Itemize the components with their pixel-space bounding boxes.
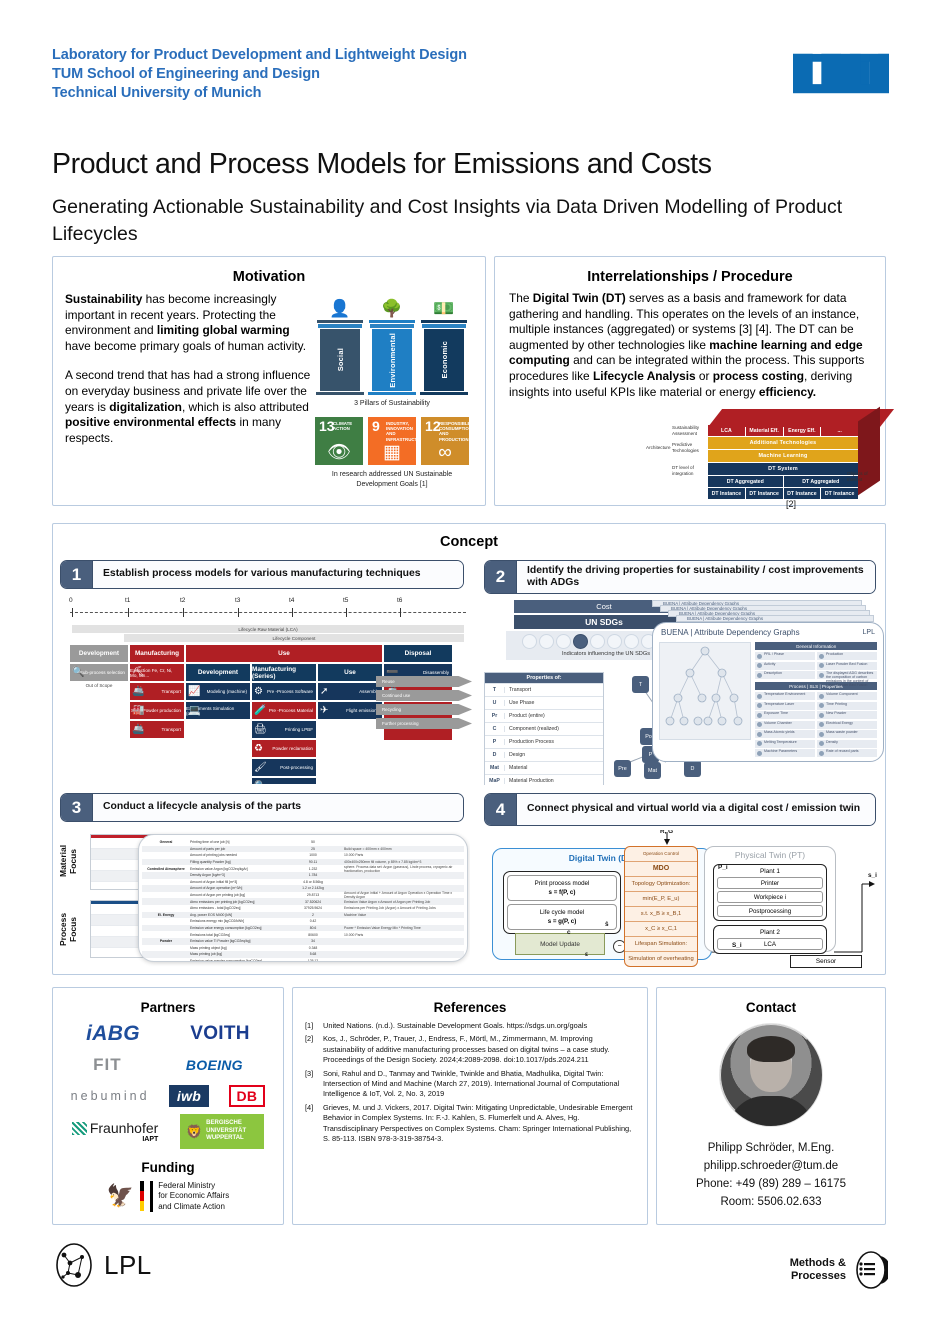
reference-number: [2]: [305, 1034, 318, 1065]
property-key: Pr: [485, 713, 505, 719]
motivation-panel: Motivation Sustainability has become inc…: [52, 256, 486, 506]
pillar-cap-2: [370, 324, 414, 328]
pillar-label-environmental: Environmental: [388, 333, 397, 388]
indicator-circle: [590, 634, 605, 649]
step-3-number: 3: [61, 794, 93, 821]
step-2-number: 2: [485, 561, 517, 593]
prop-left: Temperature Laser: [755, 702, 815, 710]
methods-line-1: Methods &: [790, 1257, 846, 1271]
row-label: Emissions energy mix [kgCO2/kWh]: [190, 919, 282, 923]
group-label: Controlled Atmosphere: [142, 867, 190, 871]
plant-2-name: Plant 2: [717, 929, 823, 936]
logo-wuppertal: 🦁 BERGISCHE UNIVERSITÄT WUPPERTAL: [180, 1114, 264, 1149]
process-label: Powder reclamation: [272, 746, 313, 751]
prop-right: Density: [817, 740, 877, 748]
partners-panel: Partners iABG VOITH FIT BOEING nebumind …: [52, 987, 284, 1225]
row-value: 1.232: [282, 867, 344, 871]
table-row: DescriptionThe displayed ADG describes t…: [755, 671, 877, 679]
arrow-continued-use: Continued use: [376, 690, 472, 701]
properties-table-header: Properties of:: [485, 673, 603, 683]
operation-control-mdo-box: Operation Control MDO Topology Optimizat…: [624, 846, 698, 967]
group-label: Powder: [142, 939, 190, 943]
row-value: 1.784: [282, 873, 344, 877]
partners-heading: Partners: [53, 988, 283, 1015]
list-item: [4]Grieves, M. und J. Vickers, 2017. Dig…: [305, 1103, 635, 1145]
phase-header-use: Use: [186, 645, 382, 662]
sub-header-manufacturing: Manufacturing (Series): [252, 664, 316, 681]
concept-step-3[interactable]: 3 Conduct a lifecycle analysis of the pa…: [60, 793, 464, 822]
model-update-box: Model Update: [515, 933, 605, 955]
avatar: [719, 1023, 823, 1127]
row-value: 1.2 or 2.142kg: [282, 886, 344, 890]
process-box-steel-powder: 🏭Steel Powder production: [130, 702, 184, 719]
stack-cell-dt-instance-1: DT Instance: [708, 488, 745, 499]
tick-label-t3: t3: [235, 597, 240, 604]
prop-left: Exposure Time: [755, 711, 815, 719]
pillar-label-economic: Economic: [440, 341, 449, 378]
process-label: Transport: [162, 727, 182, 732]
mdo-constraint-2: x_C ≥ x_C,1: [625, 922, 697, 937]
funding-line-3: and Climate Action: [158, 1202, 229, 1213]
motivation-bold-4: positive environmental effects: [65, 415, 236, 429]
signal-pi: P_i: [718, 864, 728, 871]
contact-phone: Phone: +49 (89) 289 – 16175: [657, 1175, 885, 1193]
motivation-bold-2: limiting global warming: [157, 323, 290, 337]
use-sub-development: Development 📈Modeling (machine) 💻Experim…: [186, 664, 250, 719]
process-focus-label: Process Focus: [58, 900, 78, 958]
pillar-base: [368, 392, 416, 395]
prop-right: Mass waste powder: [817, 730, 877, 738]
avatar-hair: [747, 1036, 795, 1062]
sdg-13-label: CLIMATE ACTION: [333, 421, 361, 431]
property-value: Product (entire): [505, 713, 545, 719]
funding-ministry-name: Federal Ministry for Economic Affairs an…: [150, 1181, 229, 1213]
concept-step-1[interactable]: 1 Establish process models for various m…: [60, 560, 464, 589]
table-row: PProduction Process: [485, 735, 603, 748]
row-value[interactable]: 25: [282, 847, 344, 851]
process-label: Pre -Process Software: [267, 689, 313, 694]
arrow-further-processing: Further processing: [376, 718, 472, 729]
lifecycle-raw-material-bar: Lifecycle Raw Material (LCA): [72, 625, 464, 633]
table-row: TTransport: [485, 683, 603, 696]
methods-line-2: Processes: [790, 1270, 846, 1284]
group-label: El. Energy: [142, 913, 190, 917]
sub-header-use: Use: [318, 664, 382, 681]
tick-label-t1: t1: [125, 597, 130, 604]
logo-fit: FIT: [93, 1055, 122, 1075]
wuppertal-label: BERGISCHE UNIVERSITÄT WUPPERTAL: [206, 1120, 258, 1143]
row-note: Machine Value: [344, 913, 464, 917]
money-icon: 💵: [433, 298, 454, 320]
computer-icon: 💻: [188, 703, 200, 718]
process-box-pre-process-software: ⚙Pre -Process Software: [252, 683, 316, 700]
tick-label-t5: t5: [343, 597, 348, 604]
stack-label-architecture: Architecture: [646, 445, 671, 451]
group-label: General: [142, 840, 190, 844]
property-value: Production Process: [505, 739, 554, 745]
logo-boeing: BOEING: [186, 1057, 243, 1073]
material-focus-label: Material Focus: [58, 834, 78, 888]
signal-si-feedback: S_i: [732, 942, 742, 949]
property-key: P: [485, 739, 505, 745]
table-row: El. EnergyAvg. power EOS M400 [kW]2Machi…: [142, 912, 464, 919]
step-1-label: Establish process models for various man…: [93, 561, 463, 588]
info-value: The displayed ADG describes the composit…: [817, 671, 877, 679]
property-key: MaP: [485, 778, 505, 784]
info-value: Laser Powder Bed Fusion: [817, 662, 877, 670]
row-note: sphere. Process data set: Argon (gaseous…: [344, 865, 464, 873]
buena-card-body: General Information PRL / PhaseProductio…: [653, 642, 883, 759]
logo-nebumind: nebumind: [71, 1089, 150, 1103]
use-sub-manufacturing: Manufacturing (Series) ⚙Pre -Process Sof…: [252, 664, 316, 784]
row-label: Atmo emissions per printing job [kgCO2eq…: [190, 900, 282, 904]
stack-cell-lca: LCA: [708, 425, 745, 436]
process-label: Post-processing: [280, 765, 313, 770]
sdg-9-number: 9: [372, 420, 380, 432]
process-label: Modeling (machine): [207, 689, 247, 694]
table-row: Temperature LaserTime Printing: [755, 702, 877, 710]
stack-citation: [2]: [786, 499, 796, 509]
process-label: Flight emissions: [346, 708, 379, 713]
row-value: 37925.9624: [282, 906, 344, 910]
pillar-cap: [369, 320, 415, 323]
interrelationships-text: The Digital Twin (DT) serves as a basis …: [509, 291, 875, 400]
emissions-calculation-sheet[interactable]: GeneralPrinting time of one job [h]50 Am…: [138, 834, 468, 962]
table-row: Amount of parts per job25Build space = 4…: [142, 846, 464, 853]
row-value: 37.520624: [282, 900, 344, 904]
logo-fraunhofer: Fraunhofer IAPT: [72, 1120, 158, 1143]
table-row: Emission value energy consumption [kgCO2…: [142, 925, 464, 932]
table-row: DDesign: [485, 748, 603, 761]
row-label: Filling quantity Powder [kg]: [190, 860, 282, 864]
property-key: Mat: [485, 765, 505, 771]
row-label: Amount of parts per job: [190, 847, 282, 851]
table-row: GeneralPrinting time of one job [h]50: [142, 839, 464, 846]
german-flag-icon: [140, 1181, 144, 1211]
buena-card-back-4: BUENA | Attribute Dependency Graphs: [676, 615, 874, 622]
table-row: Mass Atomic yieldsMass waste powder: [755, 730, 877, 738]
logo-voith: VOITH: [190, 1023, 250, 1045]
contact-name: Philipp Schröder, M.Eng.: [657, 1139, 885, 1157]
pillar-cap-2: [422, 324, 466, 328]
table-row: MaPMaterial Production: [485, 774, 603, 785]
logo-iwb: iwb: [169, 1085, 209, 1107]
brush-icon: 🖌: [254, 760, 267, 775]
list-item: [2]Kos, J., Schröder, P., Trauer, J., En…: [305, 1034, 635, 1065]
int-bold-4: process costing: [713, 369, 804, 383]
property-key: T: [485, 687, 505, 693]
process-box-powder-reclamation: ♻Powder reclamation: [252, 740, 316, 757]
table-row: Amount of printing jobs needed100010.000…: [142, 852, 464, 859]
sdg-caption-line-1: In research addressed UN Sustainable: [307, 470, 477, 480]
info-key: PRL / Phase: [755, 652, 815, 660]
process-box-extraction: ⛏Extraction Fe, Cr, Ni, Mo, Mn...: [130, 664, 184, 681]
life-cycle-model-label: Life cycle model: [508, 908, 616, 917]
row-note: Build space = 400mm x 400mm: [344, 847, 464, 851]
arrow-reuse: Reuse: [376, 676, 472, 687]
property-value: Material Production: [505, 778, 554, 784]
prop-right: Electrical Energy: [817, 721, 877, 729]
row-note: Emission Value Argon x Amount of Argon p…: [344, 900, 464, 904]
interrelationships-panel: Interrelationships / Procedure The Digit…: [494, 256, 886, 506]
lca-spreadsheet-diagram: Material Focus Process Focus GeneralPrin…: [58, 828, 470, 968]
tree-icon: 🌳: [381, 298, 402, 320]
contact-panel: Contact Philipp Schröder, M.Eng. philipp…: [656, 987, 886, 1225]
table-row: MatMaterial: [485, 761, 603, 774]
indicator-circle: [607, 634, 622, 649]
software-icon: ⚙: [254, 684, 263, 699]
institution-header: Laboratory for Product Development and L…: [52, 46, 467, 103]
mdo-lifespan-simulation: Lifespan Simulation:: [625, 937, 697, 952]
mdo-header: Operation Control: [625, 847, 697, 862]
node-Pre: Pre: [614, 760, 631, 777]
stack-row-additional-technologies: Additional Technologies: [708, 437, 858, 449]
physical-twin-box: Physical Twin (PT) Plant 1 Printer Workp…: [704, 846, 836, 952]
sdg-caption-line-2: Development Goals [1]: [307, 480, 477, 490]
plant-2-box: Plant 2 LCA: [713, 925, 827, 954]
material-icon: 🧪: [254, 703, 266, 718]
row-label: Amount of Argon operation [m^3/h]: [190, 886, 282, 890]
prop-right: Time Printing: [817, 702, 877, 710]
row-value[interactable]: 90.11: [282, 860, 344, 864]
signal-rg: R, G: [660, 830, 673, 835]
pillar-environmental: 🌳 Environmental: [369, 298, 415, 395]
print-process-model-label: Print process model: [508, 879, 616, 888]
stack-row-machine-learning: Machine Learning: [708, 450, 858, 462]
stack-label-objects-of-interest: Objects of Interest: [847, 471, 883, 482]
phase-column-manufacturing: Manufacturing ⛏Extraction Fe, Cr, Ni, Mo…: [130, 645, 184, 738]
step-4-label: Connect physical and virtual world via a…: [517, 794, 875, 825]
graph-preview-svg: [660, 643, 750, 739]
sdg-9-label: INDUSTRY, INNOVATION AND INFRASTRUCTURE: [386, 421, 414, 442]
life-cycle-model-box: Life cycle model s = g(P, c): [507, 904, 617, 930]
row-note: Emissions per Printing Job (Argon) x Amo…: [344, 906, 464, 910]
pillar-cap: [317, 320, 363, 323]
physical-twin-title: Physical Twin (PT): [705, 847, 835, 860]
process-box-assembly: ➚Assembly: [318, 683, 382, 700]
node-T: T: [632, 676, 649, 693]
pillar-label-social: Social: [336, 348, 345, 371]
process-box-transport-2: 🚢Transport: [130, 721, 184, 738]
mdo-objective: min(E_P, E_u): [625, 892, 697, 907]
row-value: 4.8 or 8.56kg: [282, 880, 344, 884]
prop-right: Volume Component: [817, 692, 877, 700]
row-label: Amount of Argon per printing job [kg]: [190, 893, 282, 897]
phase-header-development: Development: [70, 645, 128, 662]
list-item: [3]Soni, Rahul and D., Tanmay and Twinkl…: [305, 1069, 635, 1100]
concept-step-4[interactable]: 4 Connect physical and virtual world via…: [484, 793, 876, 826]
indicator-circle: [522, 634, 537, 649]
lpl-logo-icon: LPL: [863, 629, 875, 636]
timeline-dashed-line: [70, 612, 466, 613]
references-panel: References [1]United Nations. (n.d.). Su…: [292, 987, 648, 1225]
row-label: Emission value Ti Powder [kgCO2eq/kg]: [190, 939, 282, 943]
table-row: Volume ChamberElectrical Energy: [755, 721, 877, 729]
sdg-12-icon: 12 RESPONSIBLE CONSUMPTION AND PRODUCTIO…: [421, 417, 469, 465]
step-2-label: Identify the driving properties for sust…: [517, 561, 875, 593]
reference-number: [3]: [305, 1069, 318, 1100]
mdo-overheating-simulation: Simulation of overheating: [625, 952, 697, 966]
pillar-body: Environmental: [372, 329, 412, 391]
plant-1-workpiece: Workpiece i: [717, 891, 823, 903]
row-value: 29.8713: [282, 893, 344, 897]
stack-label-dt-level-of-integration: DT level of integration: [672, 465, 704, 476]
page-subtitle: Generating Actionable Sustainability and…: [52, 194, 852, 248]
recycle-icon: ♻: [254, 741, 263, 756]
table-row: CComponent (realized): [485, 722, 603, 735]
tick-label-t2: t2: [180, 597, 185, 604]
table-row: Temperature EnvironmentVolume Component: [755, 692, 877, 700]
property-key: C: [485, 726, 505, 732]
logo-iabg: iABG: [86, 1022, 140, 1046]
process-label: Printing LPBF: [285, 727, 313, 732]
reference-number: [1]: [305, 1021, 318, 1031]
out-of-scope-note: Out of Scope: [70, 683, 128, 688]
table-row: Melting TemperatureDensity: [755, 740, 877, 748]
tum-logo-icon: [792, 50, 890, 97]
prop-left: Mass Atomic yields: [755, 730, 815, 738]
prop-right: New Powder: [817, 711, 877, 719]
sdg-9-icon: 9 INDUSTRY, INNOVATION AND INFRASTRUCTUR…: [368, 417, 416, 465]
row-label: Mass printing object [kg]: [190, 946, 282, 950]
property-value: Design: [505, 752, 525, 758]
stack-cell-dt-instance-3: DT Instance: [784, 488, 821, 499]
pillar-cap-2: [318, 324, 362, 328]
row-value[interactable]: 1000: [282, 853, 344, 857]
buena-graph-preview: [659, 642, 751, 740]
partner-logo-grid: iABG VOITH FIT BOEING nebumind iwb DB Fr…: [53, 1015, 283, 1149]
prop-left: Machine Parameters: [755, 749, 815, 757]
tick-label-0: 0: [69, 597, 73, 604]
pillars-caption: 3 Pillars of Sustainability: [307, 400, 477, 407]
pillar-cap: [421, 320, 467, 323]
tick-label-t6: t6: [397, 597, 402, 604]
contact-details: Philipp Schröder, M.Eng. philipp.schroed…: [657, 1139, 885, 1211]
motivation-bold-1: Sustainability: [65, 292, 142, 306]
step-4-number: 4: [485, 794, 517, 825]
arrow-recycling: Recycling: [376, 704, 472, 715]
pillar-body: Social: [320, 329, 360, 391]
table-row: Density Argon [kg/m^3]1.784: [142, 872, 464, 879]
row-label: Amount of Argon initial fill [m^3]: [190, 880, 282, 884]
lifecycle-timeline-diagram: 0 t1 t2 t3 t4 t5 t6 Lifecycle Raw Materi…: [62, 596, 472, 784]
reference-text: United Nations. (n.d.). Sustainable Deve…: [323, 1021, 587, 1031]
lpl-label: LPL: [104, 1250, 152, 1281]
reference-number: [4]: [305, 1103, 318, 1145]
sdg-icon-row: 13 CLIMATE ACTION 👁 9 INDUSTRY, INNOVATI…: [307, 417, 477, 465]
row-value[interactable]: 2: [282, 913, 344, 917]
table-row: Mass printing object [kg]0.348: [142, 945, 464, 952]
row-label: Emissions total [kgCO2eq]: [190, 933, 282, 937]
indicator-circle: [624, 634, 639, 649]
process-label: Sub-process selection: [80, 670, 125, 675]
footer-lpl-logo: LPL: [54, 1243, 152, 1287]
cubes-icon: ▦: [368, 443, 416, 462]
row-note: 10.000 Parts: [344, 853, 464, 857]
infinity-icon: ∞: [421, 443, 469, 462]
signal-epsilon: ε: [585, 951, 588, 958]
process-box-subprocess-selection: 🔍Sub-process selection: [70, 664, 128, 681]
row-value: 34: [282, 939, 344, 943]
buena-card[interactable]: BUENA | Attribute Dependency Graphs LPL: [652, 622, 884, 762]
row-note: 10.000 Parts: [344, 933, 464, 937]
motivation-run-2: have become primary goals of human activ…: [65, 339, 306, 353]
plant-1-postprocessing: Postprocessing: [717, 905, 823, 917]
fraunhofer-label: Fraunhofer: [90, 1120, 158, 1136]
table-row: Amount of Argon per printing job [kg]29.…: [142, 892, 464, 899]
row-label: Printing time of one job [h]: [190, 840, 282, 844]
logo-db: DB: [229, 1085, 266, 1107]
plant-1-printer: Printer: [717, 877, 823, 889]
general-information-header: General Information: [755, 642, 877, 650]
row-label: Emission value Argon [kgCO2eq/kgAr]: [190, 867, 282, 871]
row-label: Avg. power EOS M400 [kW]: [190, 913, 282, 917]
factory-icon: 🏭: [132, 703, 144, 718]
process-box-experiments: 💻Experiments Simulation (noise): [186, 702, 250, 719]
process-box-pre-process-material: 🧪Pre -Process Material: [252, 702, 316, 719]
affiliation-line-3: Technical University of Munich: [52, 84, 467, 103]
airplane-icon: ✈: [320, 703, 328, 718]
person-icon: 👤: [329, 298, 350, 320]
prop-left: Melting Temperature: [755, 740, 815, 748]
step-1-number: 1: [61, 561, 93, 588]
mine-icon: ⛏: [132, 665, 145, 680]
motivation-bold-3: digitalization: [109, 400, 182, 414]
motivation-run-4: , which is also attributed: [182, 400, 309, 414]
table-row: Emissions energy mix [kgCO2/kWh]0.42: [142, 918, 464, 925]
row-value: 80.6: [282, 926, 344, 930]
stack-row-dt-aggregated: DT Aggregated DT Aggregated: [708, 476, 858, 487]
funding-heading: Funding: [53, 1154, 283, 1175]
step-3-label: Conduct a lifecycle analysis of the part…: [93, 794, 463, 821]
concept-step-2[interactable]: 2 Identify the driving properties for su…: [484, 560, 876, 594]
contact-email[interactable]: philipp.schroeder@tum.de: [657, 1157, 885, 1175]
table-row: PowderEmission value Ti Powder [kgCO2eq/…: [142, 938, 464, 945]
int-bold-5: efficiency.: [759, 385, 816, 399]
info-key: Description: [755, 671, 815, 679]
process-label: Transport: [162, 689, 182, 694]
stack-cell-dt-instance-4: DT Instance: [821, 488, 858, 499]
signal-s-hat: ŝ: [605, 921, 609, 928]
table-row: Emissions total [kgCO2eq]8060010.000 Par…: [142, 931, 464, 938]
row-value: 125.12: [282, 959, 344, 962]
mdo-constraint-1: s.t. x_B ≥ x_B,1: [625, 907, 697, 922]
three-pillars-diagram: 👤 Social 🌳 Environmental 💵: [307, 287, 477, 395]
pillar-economic: 💵 Economic: [421, 298, 467, 395]
table-row: Amount of Argon initial fill [m^3]4.8 or…: [142, 879, 464, 886]
property-value: Material: [505, 765, 527, 771]
buena-card-header: BUENA | Attribute Dependency Graphs LPL: [653, 623, 883, 642]
row-value[interactable]: 0.348: [282, 946, 344, 950]
signal-si-out: s_i: [868, 872, 877, 879]
references-heading: References: [293, 988, 647, 1015]
buena-title: BUENA | Attribute Dependency Graphs: [661, 628, 800, 637]
int-run-1: The: [509, 291, 533, 305]
methods-processes-label: Methods & Processes: [790, 1257, 846, 1284]
pillar-base: [316, 392, 364, 395]
adg-diagram: Cost UN SDGs Indicators influencing the …: [484, 600, 884, 785]
row-label: Atmo emissions - total [kgCO2eq]: [190, 906, 282, 910]
row-value: 80600: [282, 933, 344, 937]
row-value[interactable]: 50: [282, 840, 344, 844]
methods-processes-icon: [854, 1250, 888, 1290]
process-box-post-processing: 🖌Post-processing: [252, 759, 316, 776]
table-row: PRL / PhaseProduction: [755, 652, 877, 660]
node-D: D: [684, 760, 701, 777]
node-Mat: Mat: [644, 762, 661, 779]
table-row: PrProduct (entire): [485, 709, 603, 722]
stack-cell-dt-instance-2: DT Instance: [746, 488, 783, 499]
